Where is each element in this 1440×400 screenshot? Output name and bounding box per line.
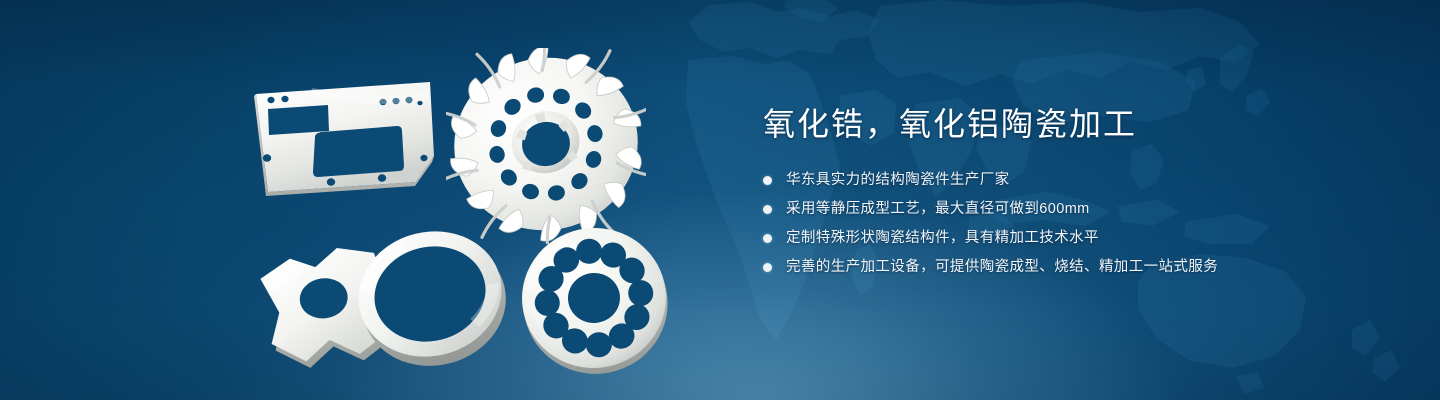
bullet-dot-icon xyxy=(763,234,772,243)
bullet-dot-icon xyxy=(763,176,772,185)
banner-title: 氧化锆，氧化铝陶瓷加工 xyxy=(763,104,1363,144)
feature-item: 华东具实力的结构陶瓷件生产厂家 xyxy=(763,170,1363,190)
feature-text: 完善的生产加工设备，可提供陶瓷成型、烧结、精加工一站式服务 xyxy=(786,257,1218,277)
feature-text: 定制特殊形状陶瓷结构件，具有精加工技术水平 xyxy=(786,228,1099,248)
ceramic-seal-ring xyxy=(338,222,518,372)
ceramic-impeller-rotor xyxy=(446,48,646,244)
feature-text: 华东具实力的结构陶瓷件生产厂家 xyxy=(786,170,1010,190)
bullet-dot-icon xyxy=(763,263,772,272)
feature-list: 华东具实力的结构陶瓷件生产厂家 采用等静压成型工艺，最大直径可做到600mm 定… xyxy=(763,170,1363,277)
bullet-dot-icon xyxy=(763,205,772,214)
feature-text: 采用等静压成型工艺，最大直径可做到600mm xyxy=(786,199,1090,219)
promo-banner: 氧化锆，氧化铝陶瓷加工 华东具实力的结构陶瓷件生产厂家 采用等静压成型工艺，最大… xyxy=(0,0,1440,400)
feature-item: 完善的生产加工设备，可提供陶瓷成型、烧结、精加工一站式服务 xyxy=(763,257,1363,277)
banner-text-block: 氧化锆，氧化铝陶瓷加工 华东具实力的结构陶瓷件生产厂家 采用等静压成型工艺，最大… xyxy=(763,104,1363,286)
ceramic-mounting-plate xyxy=(252,78,442,198)
feature-item: 采用等静压成型工艺，最大直径可做到600mm xyxy=(763,199,1363,219)
product-showcase xyxy=(0,0,720,400)
ceramic-perforated-disc xyxy=(516,222,676,378)
feature-item: 定制特殊形状陶瓷结构件，具有精加工技术水平 xyxy=(763,228,1363,248)
